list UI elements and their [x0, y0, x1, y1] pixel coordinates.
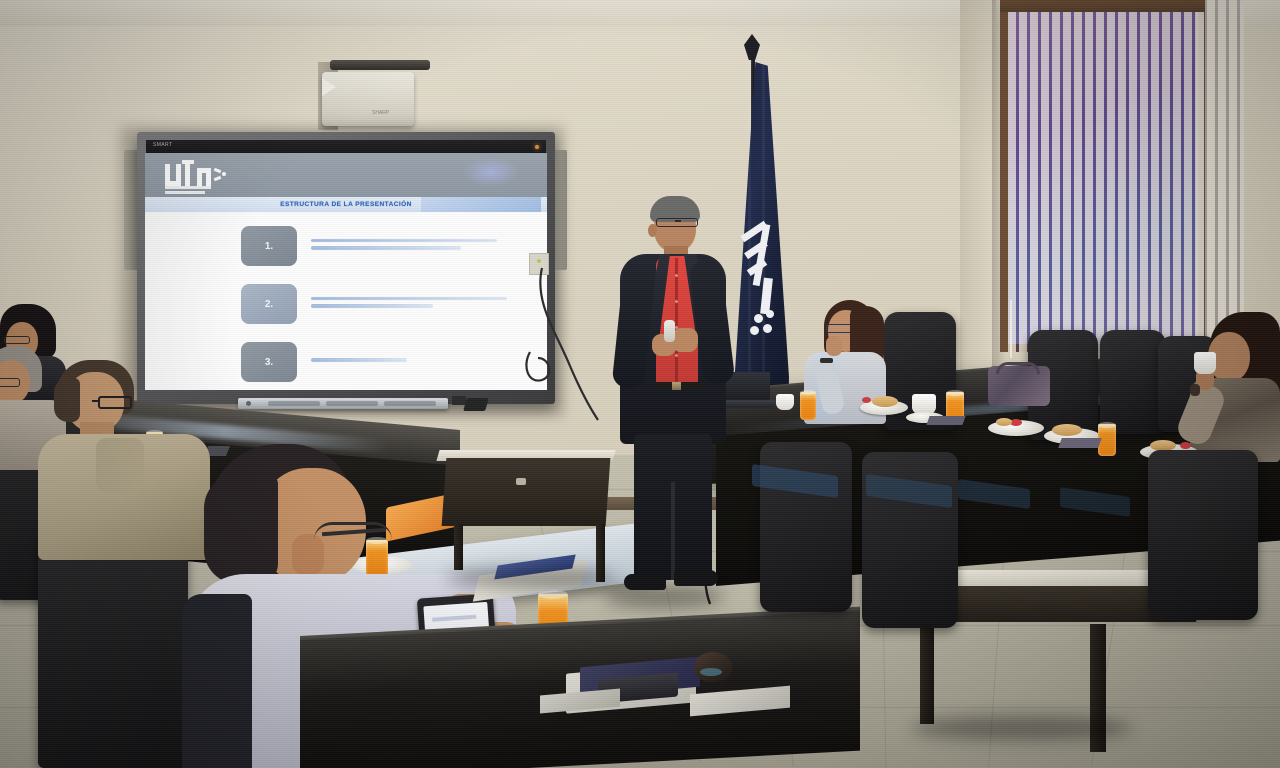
smartboard-topbar	[146, 140, 546, 153]
dark-round-object[interactable]	[694, 652, 732, 682]
slide-item-number: 1.	[241, 226, 297, 266]
wall-corner	[960, 0, 996, 420]
attendee-left-1	[44, 360, 204, 560]
handbag-handle	[996, 362, 1040, 374]
pen-tray-button[interactable]	[246, 401, 251, 406]
orange-juice-glass[interactable]	[800, 392, 816, 420]
glasses-icon	[98, 396, 132, 409]
shoe	[624, 574, 666, 590]
office-chair[interactable]	[1148, 450, 1258, 620]
vertical-blinds-extension[interactable]	[1196, 0, 1244, 350]
status-led-icon	[535, 145, 539, 149]
slide-item-text	[311, 239, 497, 254]
bracelet	[1190, 384, 1200, 396]
object-highlight	[700, 668, 722, 676]
slide-item-number: 2.	[241, 284, 297, 324]
chair-back	[182, 594, 252, 768]
vertical-blinds[interactable]	[1008, 0, 1198, 352]
coffee-cup[interactable]	[1194, 352, 1216, 374]
presenter-hand-right	[672, 328, 698, 352]
presentation-slide: ESTRUCTURA DE LA PRESENTACIÓN 1. 2.	[145, 153, 547, 390]
belt-buckle	[672, 382, 681, 390]
ear	[648, 224, 657, 237]
slide-item-number: 3.	[241, 342, 297, 382]
napkin	[1058, 438, 1102, 448]
utn-logo-subtext-1	[165, 186, 211, 189]
jam-portion	[862, 397, 871, 403]
slide-item-text	[311, 358, 407, 366]
bread-roll	[996, 418, 1012, 426]
smartboard-pen[interactable]	[463, 398, 489, 411]
utn-logo-subtext-2	[165, 191, 205, 194]
glasses-icon	[4, 336, 30, 344]
slide-title: ESTRUCTURA DE LA PRESENTACIÓN	[280, 201, 412, 208]
slide-item-3: 3.	[241, 342, 407, 382]
smartboard-side-handle-right	[553, 150, 567, 270]
wall-mount-bracket	[452, 396, 466, 405]
attendee-right-2	[1182, 312, 1280, 462]
slide-item-text	[311, 297, 507, 312]
drawer-pull-icon	[516, 478, 526, 485]
office-chair[interactable]	[1100, 330, 1166, 434]
conference-room-photo: SHARP SMART	[0, 0, 1280, 768]
presenter	[598, 196, 728, 608]
blind-headrail	[1000, 0, 1205, 12]
smartboard-side-handle-left	[124, 150, 138, 270]
side-table-left	[442, 458, 611, 526]
slide-body: 1. 2. 3.	[145, 212, 547, 390]
bread-roll	[872, 396, 898, 407]
projector-mount-arm	[330, 60, 430, 70]
office-chair[interactable]	[38, 524, 188, 768]
bread-roll	[1052, 424, 1082, 436]
slide-item-2: 2.	[241, 284, 507, 324]
wristwatch	[820, 358, 833, 363]
blind-cord[interactable]	[1010, 300, 1012, 358]
projector	[322, 72, 414, 126]
slide-header	[145, 153, 547, 197]
projector-brand-label: SHARP	[372, 110, 389, 116]
hand	[826, 336, 842, 356]
slide-title-accent	[421, 197, 541, 212]
coffee-cup[interactable]	[912, 394, 936, 414]
jam-portion	[1180, 442, 1191, 449]
projector-glare	[463, 157, 519, 187]
flag-utn-emblem-icon	[738, 222, 784, 352]
glasses-icon	[0, 378, 20, 387]
shoe	[674, 570, 718, 586]
napkin	[926, 416, 965, 425]
coffee-cup[interactable]	[776, 394, 794, 410]
smartboard-brand-label: SMART	[153, 142, 172, 148]
ear	[292, 534, 324, 576]
smartboard-pen-tray[interactable]	[238, 398, 448, 409]
slide-title-bar: ESTRUCTURA DE LA PRESENTACIÓN	[145, 197, 547, 212]
slide-item-1: 1.	[241, 226, 497, 266]
presenter-remote[interactable]	[664, 320, 675, 342]
